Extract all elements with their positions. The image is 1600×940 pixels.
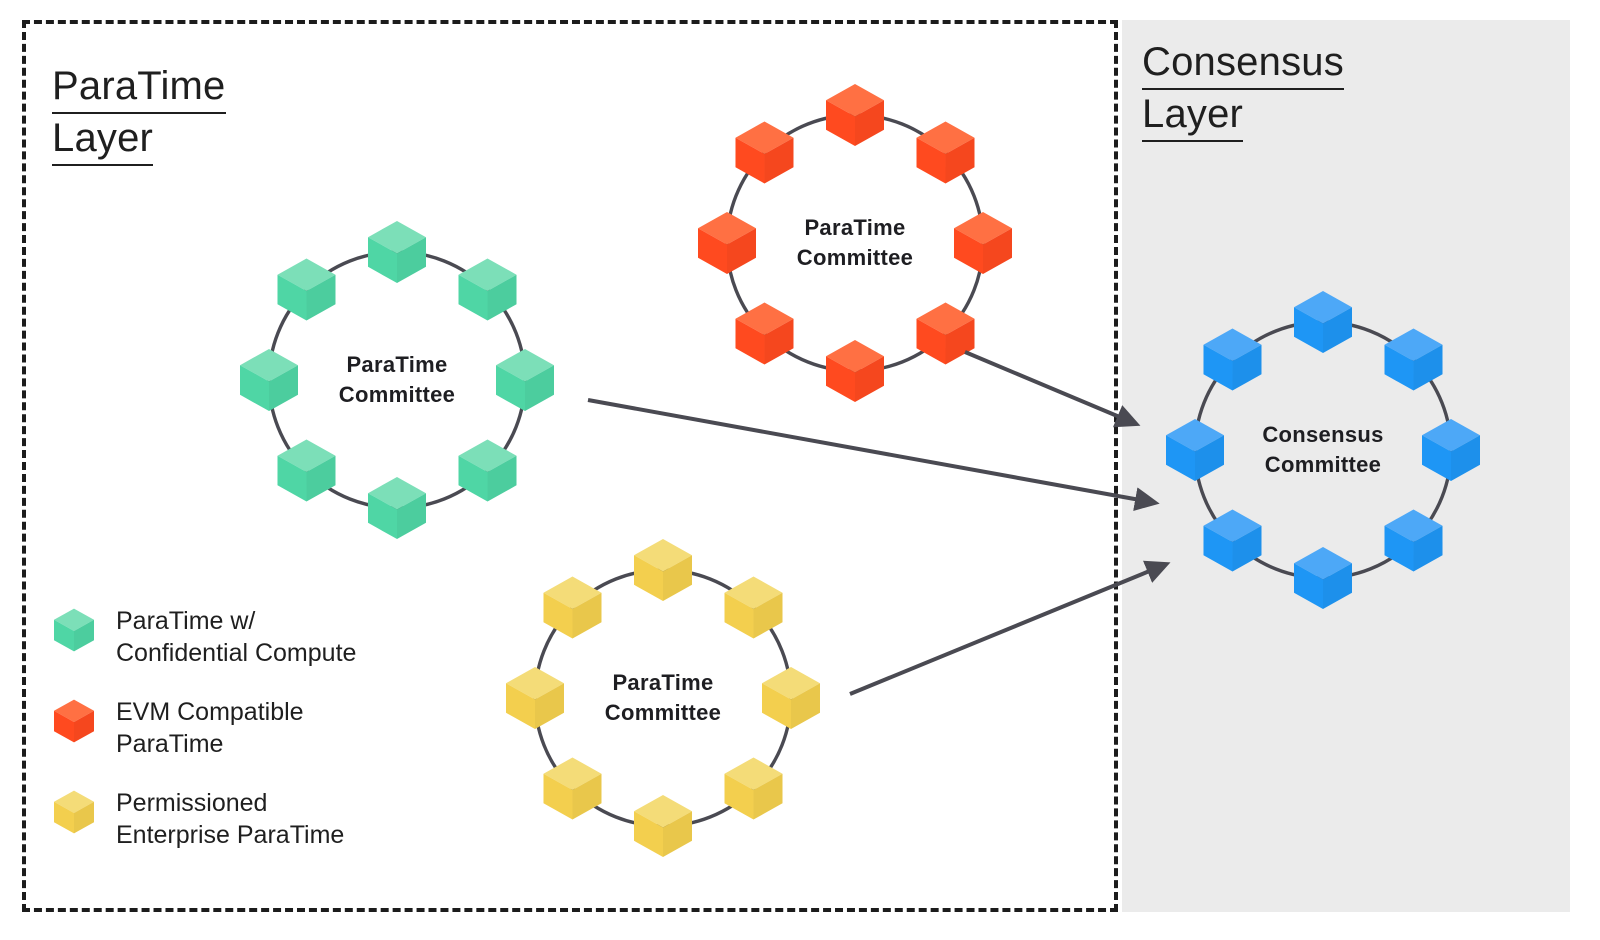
legend-label-permissioned: PermissionedEnterprise ParaTime	[116, 786, 344, 851]
layer-divider	[1114, 20, 1118, 912]
legend-item-confidential[interactable]: ParaTime w/Confidential Compute	[52, 604, 452, 669]
paratime-layer-title: ParaTimeLayer	[52, 62, 226, 166]
diagram-canvas: ParaTimeLayer ConsensusLayer ParaTimeCom…	[0, 0, 1600, 940]
ring-graphic-consensus	[1148, 275, 1498, 625]
cube-icon-evm	[52, 697, 96, 745]
ring-paratime-evm[interactable]: ParaTimeCommittee	[680, 68, 1030, 418]
ring-paratime-permissioned[interactable]: ParaTimeCommittee	[488, 523, 838, 873]
cube-icon-confidential	[52, 606, 96, 654]
ring-graphic-evm	[680, 68, 1030, 418]
cube-icon-permissioned	[52, 788, 96, 836]
legend-label-evm: EVM CompatibleParaTime	[116, 695, 304, 760]
consensus-layer-title: ConsensusLayer	[1142, 38, 1344, 142]
legend-item-evm[interactable]: EVM CompatibleParaTime	[52, 695, 452, 760]
ring-consensus-committee[interactable]: ConsensusCommittee	[1148, 275, 1498, 625]
legend-label-confidential: ParaTime w/Confidential Compute	[116, 604, 356, 669]
ring-graphic-confidential	[222, 205, 572, 555]
legend: ParaTime w/Confidential Compute EVM Comp…	[52, 604, 452, 877]
ring-graphic-permissioned	[488, 523, 838, 873]
ring-paratime-confidential[interactable]: ParaTimeCommittee	[222, 205, 572, 555]
legend-item-permissioned[interactable]: PermissionedEnterprise ParaTime	[52, 786, 452, 851]
